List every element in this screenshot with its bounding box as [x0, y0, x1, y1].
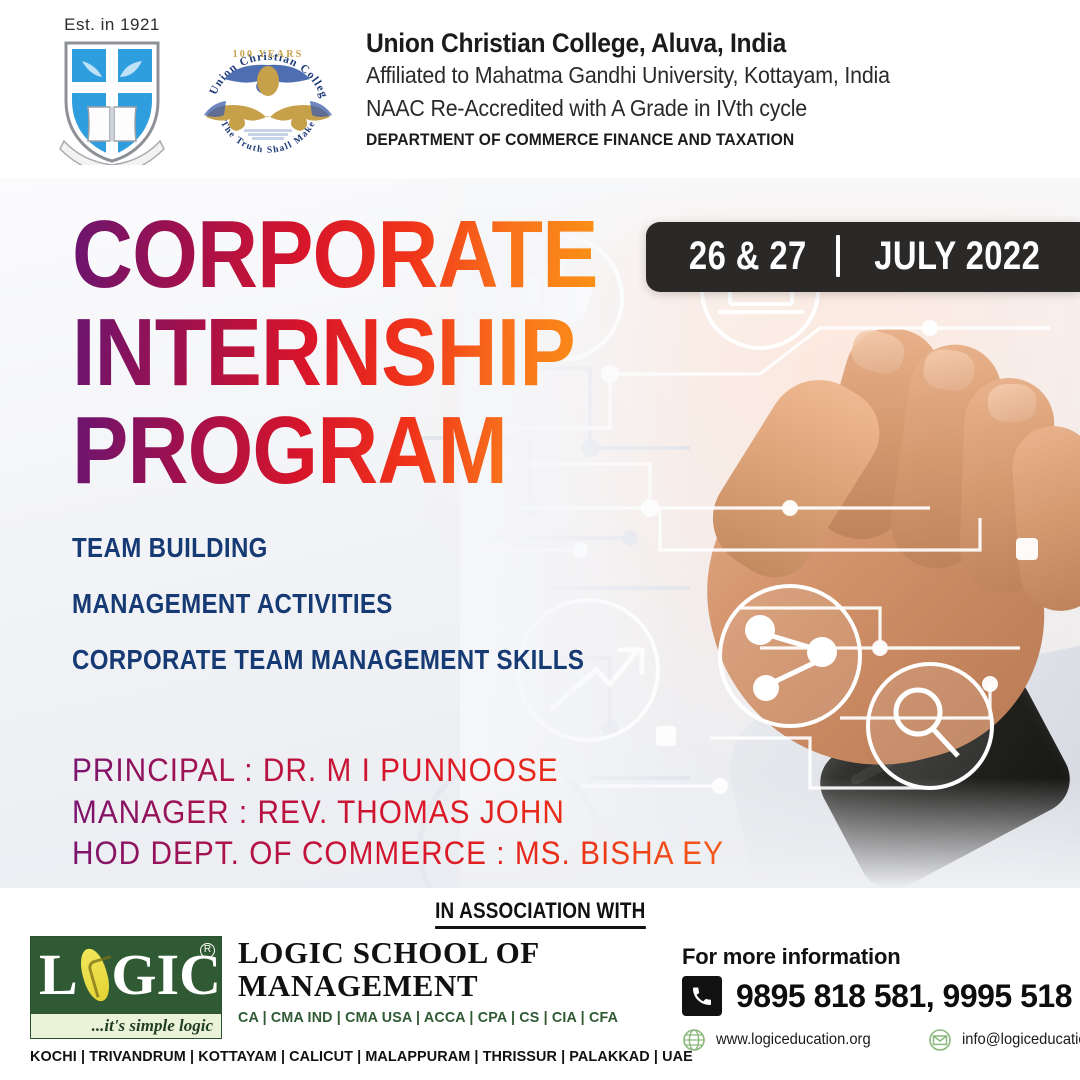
title-line-3: PROGRAM — [72, 404, 598, 498]
logic-logo: L GIC R ...it's simple logic — [30, 936, 222, 1039]
staff-hod: HOD DEPT. OF COMMERCE : MS. BISHA EY — [72, 833, 724, 875]
logic-tagline: ...it's simple logic — [30, 1014, 222, 1039]
contact-heading: For more information — [682, 944, 1080, 970]
title-line-1: CORPORATE — [72, 208, 598, 302]
institution-name: Union Christian College, Aluva, India — [366, 28, 890, 59]
college-shield-crest: Est. in 1921 — [38, 9, 186, 169]
logic-letter-o-leaf — [79, 946, 111, 1004]
event-month-year: JULY 2022 — [874, 236, 1040, 276]
established-label: Est. in 1921 — [38, 15, 186, 35]
email-item[interactable]: info@logiceducation.org — [928, 1028, 1080, 1052]
event-days: 26 & 27 — [689, 236, 807, 276]
staff-principal: PRINCIPAL : DR. M I PUNNOOSE — [72, 750, 724, 792]
partner-name-block: LOGIC SCHOOL OF MANAGEMENT CA | CMA IND … — [238, 936, 638, 1026]
share-network-icon — [720, 586, 860, 726]
accreditation-line: NAAC Re-Accredited with A Grade in IVth … — [366, 92, 890, 125]
magnifier-icon — [868, 664, 992, 788]
program-highlights: TEAM BUILDING MANAGEMENT ACTIVITIES CORP… — [72, 534, 668, 674]
date-separator — [836, 235, 840, 277]
website-text: www.logiceducation.org — [716, 1031, 871, 1049]
staff-manager: MANAGER : REV. THOMAS JOHN — [72, 792, 724, 834]
contact-block: For more information 9895 818 581, 9995 … — [682, 944, 1080, 1052]
event-date-badge: 26 & 27 JULY 2022 — [646, 222, 1080, 292]
shield-graphic — [58, 37, 166, 170]
poster-body: CORPORATE INTERNSHIP PROGRAM 26 & 27 JUL… — [0, 178, 1080, 888]
phone-icon — [682, 976, 722, 1016]
partner-block: L GIC R ...it's simple logic LOGIC SCHOO… — [30, 936, 638, 1039]
contact-phones[interactable]: 9895 818 581, 9995 518 581 — [736, 978, 1080, 1015]
page-footer: IN ASSOCIATION WITH L GIC R ...it's simp… — [0, 888, 1080, 1080]
department-line: DEPARTMENT OF COMMERCE FINANCE AND TAXAT… — [366, 130, 884, 150]
centenary-doves-emblem: Union Christian College, Aluva The Truth… — [192, 9, 344, 169]
poster-title: CORPORATE INTERNSHIP PROGRAM — [72, 208, 669, 498]
highlight-item: TEAM BUILDING — [72, 534, 584, 562]
page-header: Est. in 1921 — [0, 0, 1080, 178]
globe-icon — [682, 1028, 706, 1052]
affiliation-line: Affiliated to Mahatma Gandhi University,… — [366, 59, 890, 92]
staff-list: PRINCIPAL : DR. M I PUNNOOSE MANAGER : R… — [72, 750, 773, 875]
logic-logo-box: L GIC R — [30, 936, 222, 1014]
svg-text:1921 - 2021: 1921 - 2021 — [239, 111, 298, 121]
email-text: info@logiceducation.org — [962, 1031, 1080, 1049]
highlight-item: MANAGEMENT ACTIVITIES — [72, 590, 584, 618]
partner-name-line1: LOGIC SCHOOL OF — [238, 936, 638, 969]
partner-branches: KOCHI | TRIVANDRUM | KOTTAYAM | CALICUT … — [30, 1048, 693, 1065]
highlight-item: CORPORATE TEAM MANAGEMENT SKILLS — [72, 646, 584, 674]
partner-qualifications: CA | CMA IND | CMA USA | ACCA | CPA | CS… — [238, 1009, 618, 1026]
svg-text:100 YEARS: 100 YEARS — [233, 49, 304, 60]
website-item[interactable]: www.logiceducation.org — [682, 1028, 884, 1052]
envelope-icon — [928, 1028, 952, 1052]
title-line-2: INTERNSHIP — [72, 306, 598, 400]
header-text-block: Union Christian College, Aluva, India Af… — [366, 28, 929, 149]
logic-letter-l: L — [39, 946, 78, 1004]
association-text: IN ASSOCIATION WITH — [435, 898, 645, 929]
association-label: IN ASSOCIATION WITH — [0, 898, 1080, 929]
partner-name-line2: MANAGEMENT — [238, 969, 638, 1002]
registered-mark-icon: R — [200, 943, 215, 958]
